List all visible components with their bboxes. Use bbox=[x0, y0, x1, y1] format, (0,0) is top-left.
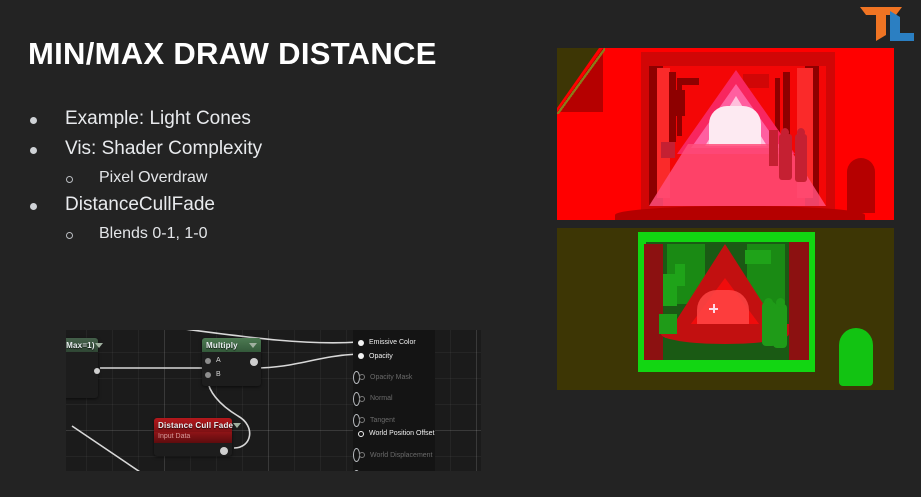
shader-complexity-green-view bbox=[557, 228, 894, 390]
pin-icon[interactable] bbox=[359, 374, 365, 380]
list-item-label: Pixel Overdraw bbox=[99, 168, 207, 187]
pin-label: Opacity bbox=[369, 353, 393, 360]
list-item-label: Vis: Shader Complexity bbox=[65, 138, 262, 160]
pin-icon[interactable] bbox=[358, 340, 364, 346]
clamp-node-title: ) (Max=1) bbox=[66, 341, 95, 350]
list-item: Blends 0-1, 1-0 bbox=[66, 224, 360, 243]
pin-icon[interactable] bbox=[359, 452, 365, 458]
pin-icon[interactable] bbox=[359, 417, 365, 423]
bullet-disc-icon bbox=[30, 117, 37, 124]
pin-label: Emissive Color bbox=[369, 339, 416, 346]
pin-icon[interactable] bbox=[358, 353, 364, 359]
page-title: MIN/MAX DRAW DISTANCE bbox=[28, 36, 437, 72]
pin-row-opacity-mask[interactable]: Opacity Mask bbox=[353, 371, 360, 384]
pin-row-tangent[interactable]: Tangent bbox=[353, 414, 360, 427]
list-item-label: Example: Light Cones bbox=[65, 108, 251, 130]
distance-cull-fade-node[interactable]: Distance Cull Fade Input Data bbox=[154, 418, 232, 456]
chevron-down-icon[interactable] bbox=[233, 423, 241, 428]
multiply-output-pin[interactable] bbox=[250, 358, 258, 366]
slide-root: MIN/MAX DRAW DISTANCE Example: Light Con… bbox=[0, 0, 921, 497]
green-pill-shape bbox=[839, 328, 873, 386]
pin-row-tessellation-multiplier[interactable]: Tessellation Multiplier bbox=[353, 470, 360, 471]
material-editor-graph[interactable]: ) (Max=1) Multiply A B Dis bbox=[66, 330, 481, 471]
bullet-disc-icon bbox=[30, 203, 37, 210]
pin-row-world-displacement[interactable]: World Displacement bbox=[353, 448, 360, 461]
tl-logo bbox=[858, 5, 916, 43]
shader-complexity-red-view bbox=[557, 48, 894, 220]
pin-row-emissive-color[interactable]: Emissive Color bbox=[353, 336, 435, 349]
clamp-node[interactable]: ) (Max=1) bbox=[66, 338, 98, 398]
list-item-label: DistanceCullFade bbox=[65, 194, 215, 216]
chevron-down-icon[interactable] bbox=[95, 343, 103, 348]
multiply-node[interactable]: Multiply A B bbox=[202, 338, 261, 386]
pin-label: World Position Offset bbox=[369, 430, 435, 437]
pin-row-opacity[interactable]: Opacity bbox=[353, 349, 435, 362]
multiply-input-a-label: A bbox=[216, 357, 221, 364]
pin-icon[interactable] bbox=[359, 396, 365, 402]
distance-cull-fade-output-pin[interactable] bbox=[220, 447, 228, 455]
pin-label: Normal bbox=[370, 395, 393, 402]
multiply-input-b-label: B bbox=[216, 371, 221, 378]
bullet-list: Example: Light Cones Vis: Shader Complex… bbox=[30, 108, 360, 250]
chevron-down-icon[interactable] bbox=[249, 343, 257, 348]
multiply-node-title: Multiply bbox=[206, 341, 238, 350]
pin-label: Opacity Mask bbox=[370, 374, 412, 381]
pin-label: Tangent bbox=[370, 417, 395, 424]
clamp-output-pin[interactable] bbox=[94, 368, 100, 374]
bullet-disc-icon bbox=[30, 147, 37, 154]
multiply-input-b-pin[interactable] bbox=[205, 372, 211, 378]
pin-label: World Displacement bbox=[370, 452, 433, 459]
list-item: DistanceCullFade bbox=[30, 194, 360, 216]
pin-row-normal[interactable]: Normal bbox=[353, 392, 360, 405]
multiply-input-a-pin[interactable] bbox=[205, 358, 211, 364]
pin-row-world-position-offset[interactable]: World Position Offset bbox=[353, 427, 435, 440]
bullet-circle-icon bbox=[66, 176, 73, 183]
material-output-node[interactable]: Emissive Color Opacity Opacity Mask Norm… bbox=[353, 330, 435, 471]
distance-cull-fade-subtitle: Input Data bbox=[154, 432, 232, 441]
list-item: Pixel Overdraw bbox=[66, 168, 360, 187]
distance-cull-fade-title: Distance Cull Fade bbox=[158, 421, 233, 430]
list-item-label: Blends 0-1, 1-0 bbox=[99, 224, 208, 243]
pin-icon[interactable] bbox=[358, 431, 364, 437]
bullet-circle-icon bbox=[66, 232, 73, 239]
list-item: Vis: Shader Complexity bbox=[30, 138, 360, 160]
list-item: Example: Light Cones bbox=[30, 108, 360, 130]
